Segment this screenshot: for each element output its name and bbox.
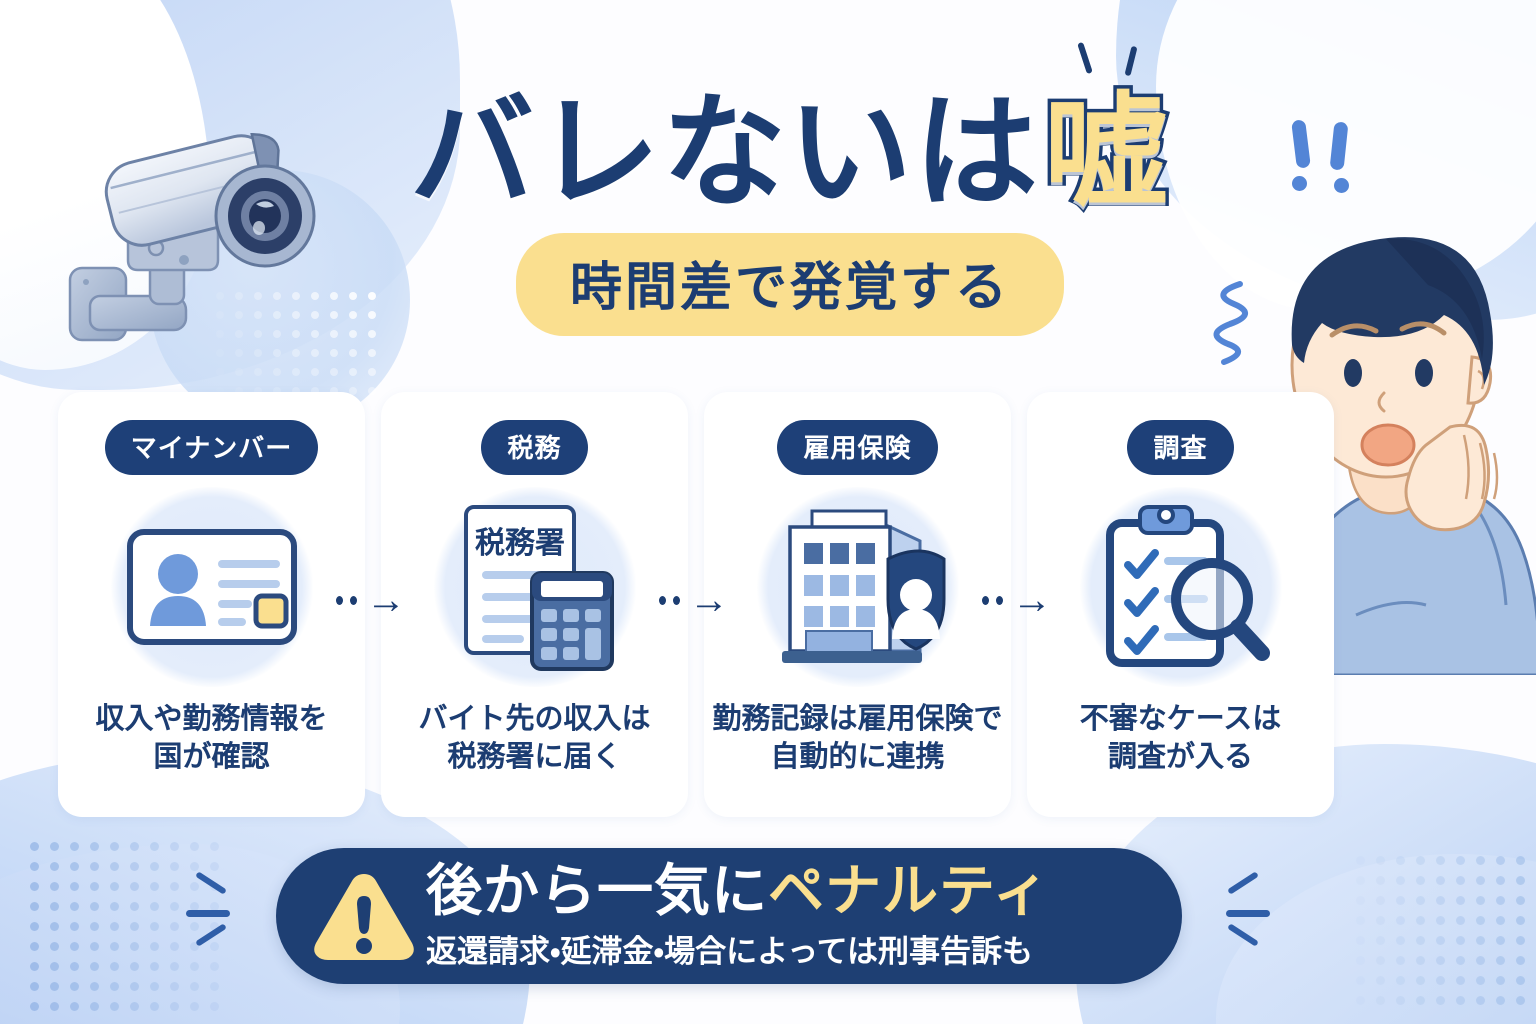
step-badge: 税務: [481, 420, 587, 475]
page-title-highlight: 嘘: [1044, 84, 1170, 222]
step-badge: 調査: [1127, 420, 1233, 475]
step-caption: 収入や勤務情報を 国が確認: [95, 701, 327, 776]
id-card-icon: [107, 487, 317, 687]
infographic-canvas: バレないは嘘 時間差で発覚する: [0, 0, 1536, 1024]
spark-tick-left: [1077, 42, 1093, 74]
penalty-banner-sub: 返還請求・延滞金・場合によっては刑事告訴も: [426, 926, 1050, 971]
step-caption: 勤務記録は雇用保険で 自動的に連携: [712, 701, 1002, 776]
spark-tick-right: [1124, 46, 1137, 77]
penalty-headline-prefix: 後から一気に: [426, 859, 768, 922]
emphasis-marks-right: [1218, 878, 1278, 950]
corner-blob-bottom-right-2: [1216, 854, 1536, 1024]
clipboard-magnifier-icon: [1076, 487, 1286, 687]
step-card[interactable]: 雇用保険: [704, 392, 1011, 817]
dot-pattern-bottom-right: [1356, 856, 1536, 1016]
arrow-glyph: →: [1012, 580, 1052, 620]
dot-pattern-bottom-left: [30, 842, 230, 1022]
svg-text:税務署: 税務署: [475, 526, 565, 560]
step-card[interactable]: 調査 不審なケースは 調査が入る: [1027, 392, 1334, 817]
penalty-banner-text: 後から一気にペナルティ 返還請求・延滞金・場合によっては刑事告訴も: [426, 861, 1050, 971]
subtitle-pill: 時間差で発覚する: [516, 233, 1064, 336]
flow-arrow-icon: →: [982, 580, 1052, 620]
warning-triangle-icon: [312, 870, 416, 962]
header-title-block: バレないは嘘 時間差で発覚する: [350, 88, 1230, 336]
arrow-glyph: →: [689, 580, 729, 620]
step-caption: 不審なケースは 調査が入る: [1080, 701, 1282, 776]
security-camera-icon: [60, 120, 330, 370]
emphasis-marks-left: [188, 878, 248, 950]
page-title-main: バレないは: [410, 84, 1040, 222]
page-title: バレないは嘘: [350, 88, 1230, 219]
building-shield-icon: [753, 487, 963, 687]
arrow-glyph: →: [366, 580, 406, 620]
flow-arrow-icon: →: [659, 580, 729, 620]
penalty-headline-highlight: ペナルティ: [768, 859, 1050, 922]
penalty-banner: 後から一気にペナルティ 返還請求・延滞金・場合によっては刑事告訴も: [276, 848, 1182, 984]
flow-arrow-icon: →: [336, 580, 406, 620]
tax-document-calculator-icon: 税務署: [430, 487, 640, 687]
penalty-banner-headline: 後から一気にペナルティ: [426, 861, 1050, 920]
step-card[interactable]: 税務 税務署: [381, 392, 688, 817]
step-badge: 雇用保険: [777, 420, 937, 475]
step-badge: マイナンバー: [105, 420, 318, 475]
step-card[interactable]: マイナンバー 収入や勤務情報を 国が確認: [58, 392, 365, 817]
step-caption: バイト先の収入は 税務署に届く: [418, 701, 650, 776]
